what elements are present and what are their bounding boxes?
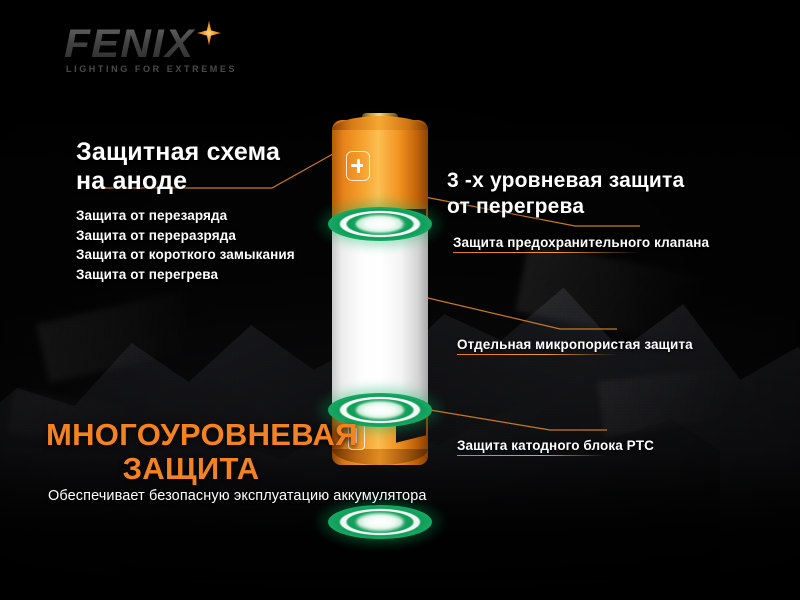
callout-underline — [453, 252, 641, 254]
left-heading-line2: на аноде — [76, 167, 280, 196]
headline-line1: МНОГОУРОВНЕВАЯ — [46, 418, 336, 452]
callout-label: Отдельная микропористая защита — [457, 337, 693, 352]
right-heading-line1: 3 -х уровневая защита — [447, 168, 684, 194]
battery-body — [332, 217, 428, 413]
callout-microporous: Отдельная микропористая защита — [457, 337, 693, 355]
list-item: Защита от короткого замыкания — [76, 245, 295, 265]
battery-plus-symbol — [346, 151, 370, 181]
main-headline: МНОГОУРОВНЕВАЯ ЗАЩИТА — [46, 418, 336, 486]
battery-top-cap — [332, 116, 428, 130]
callout-underline — [457, 354, 617, 356]
fenix-logo: FENIX LIGHTING FOR EXTREMES — [64, 22, 284, 82]
callout-label: Защита предохранительного клапана — [453, 235, 709, 250]
brand-name: FENIX — [64, 22, 297, 66]
headline-subtitle: Обеспечивает безопасную эксплуатацию акк… — [48, 488, 427, 504]
callout-label: Защита катодного блока PTC — [457, 438, 654, 453]
callout-safety-valve: Защита предохранительного клапана — [453, 235, 709, 253]
left-feature-list: Защита от перезаряда Защита от переразря… — [76, 206, 295, 284]
callout-underline — [457, 455, 607, 457]
headline-line2: ЗАЩИТА — [46, 452, 336, 486]
list-item: Защита от переразряда — [76, 226, 295, 246]
list-item: Защита от перезаряда — [76, 206, 295, 226]
list-item: Защита от перегрева — [76, 265, 295, 285]
callout-ptc: Защита катодного блока PTC — [457, 438, 654, 456]
right-heading-line2: от перегрева — [447, 194, 684, 220]
right-heading: 3 -х уровневая защита от перегрева — [447, 168, 684, 220]
infographic-canvas: FENIX LIGHTING FOR EXTREMES — [0, 0, 800, 600]
left-heading: Защитная схема на аноде — [76, 138, 280, 196]
battery-illustration — [332, 113, 428, 465]
battery-shadow-patch — [400, 209, 426, 227]
left-heading-line1: Защитная схема — [76, 138, 280, 167]
